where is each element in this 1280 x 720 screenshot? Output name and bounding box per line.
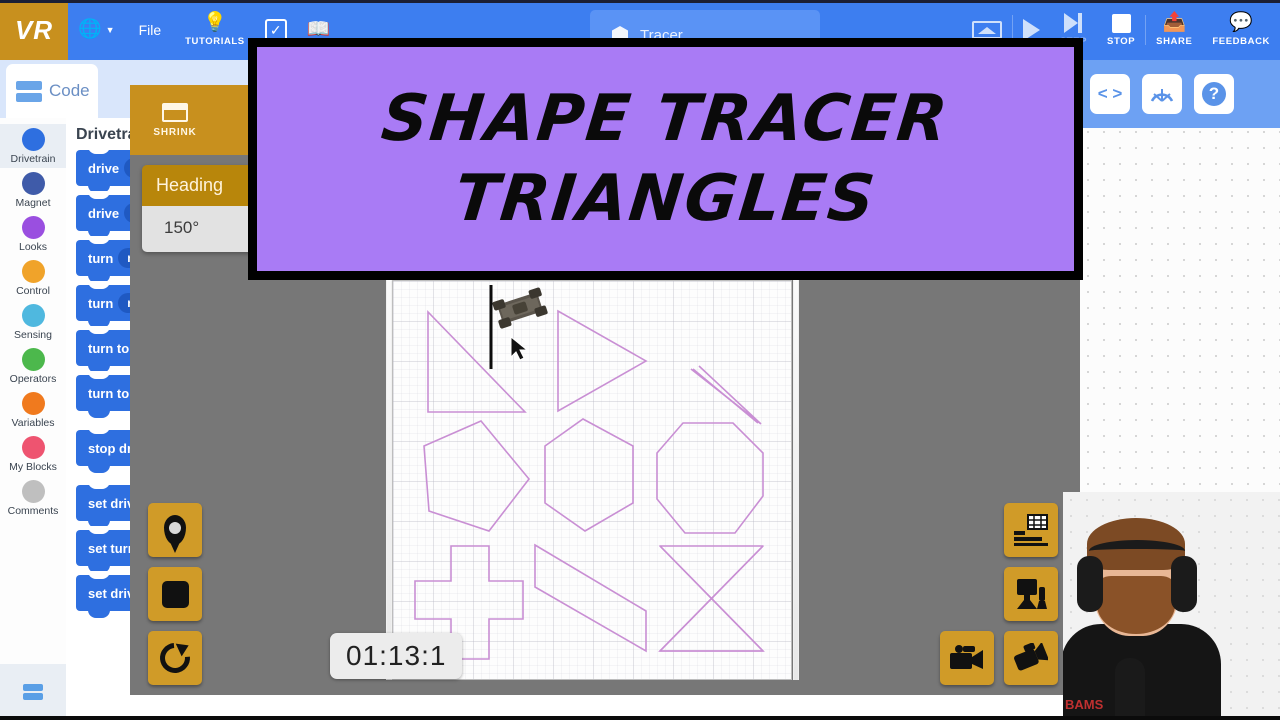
lightbulb-icon: 💡 [203, 13, 227, 33]
variables-color-dot [22, 392, 45, 415]
tab-code-label: Code [49, 81, 90, 101]
camera-view-button[interactable] [940, 631, 994, 685]
tab-code[interactable]: Code [6, 64, 98, 118]
app-window: Code Drivetrain Magnet Looks Control Sen… [0, 0, 1280, 720]
category-rail: Drivetrain Magnet Looks Control Sensing … [0, 118, 66, 720]
share-label: SHARE [1156, 36, 1192, 47]
shape-octagon [657, 423, 763, 533]
window-shrink-icon [162, 103, 188, 122]
sidebar-item-label: My Blocks [9, 461, 57, 473]
overlay-title-line1: SHAPE TRACER [379, 87, 952, 151]
shrink-label: SHRINK [153, 127, 196, 138]
sidebar-item-control[interactable]: Control [0, 256, 66, 300]
camera-controls-row [940, 631, 1058, 685]
microphone [1115, 658, 1145, 720]
feedback-label: FEEDBACK [1212, 36, 1270, 47]
presenter-beard [1097, 576, 1175, 634]
headphone-band [1089, 540, 1185, 562]
stop-button[interactable]: STOP [1097, 0, 1145, 60]
code-view-icon: < > [1098, 84, 1123, 104]
shrink-button[interactable]: SHRINK [130, 85, 220, 155]
help-icon: ? [1202, 82, 1226, 106]
data-table-icon [1014, 514, 1048, 546]
blocks-collapse-icon [23, 684, 43, 700]
share-button[interactable]: 📤 SHARE [1146, 0, 1202, 60]
reset-button[interactable] [148, 631, 202, 685]
overlay-title-line2: TRIANGLES [452, 167, 880, 231]
help-button[interactable]: ? [1194, 74, 1234, 114]
window-bottom-seam [0, 716, 1280, 720]
stop-button[interactable] [148, 567, 202, 621]
sidebar-item-label: Looks [19, 241, 47, 253]
shape-open-triangle [691, 366, 761, 424]
reset-reload-icon [154, 637, 196, 679]
workspace-toolbar: < > ? [1080, 60, 1280, 128]
comments-color-dot [22, 480, 45, 503]
sidebar-item-label: Sensing [14, 329, 52, 341]
globe-icon: 🌐 [78, 20, 102, 40]
shape-right-triangle [428, 312, 525, 412]
dashboard-button[interactable] [1142, 74, 1182, 114]
presenter-webcam: BAMS [1063, 492, 1280, 720]
stop-label: STOP [1107, 36, 1135, 47]
playground-left-controls [148, 503, 202, 685]
presenter-figure: BAMS [1063, 510, 1233, 720]
robot-sprite [492, 287, 548, 329]
sidebar-item-label: Operators [10, 373, 57, 385]
headphone-left-cup [1077, 556, 1103, 612]
shape-left-triangle [558, 311, 646, 411]
sidebar-item-drivetrain[interactable]: Drivetrain [0, 124, 66, 168]
camera-angle-icon [1014, 643, 1048, 673]
magnet-color-dot [22, 172, 45, 195]
tutorials-label: TUTORIALS [185, 36, 245, 47]
stop-icon [1112, 14, 1131, 33]
mouse-cursor [511, 337, 527, 360]
title-overlay: SHAPE TRACER TRIANGLES [248, 38, 1083, 280]
sidebar-item-looks[interactable]: Looks [0, 212, 66, 256]
data-table-button[interactable] [1004, 503, 1058, 557]
control-color-dot [22, 260, 45, 283]
sidebar-item-label: Control [16, 285, 50, 297]
sidebar-item-label: Variables [12, 417, 55, 429]
language-selector[interactable]: 🌐 ▼ [68, 20, 125, 40]
vr-logo[interactable]: VR [0, 0, 68, 60]
robot-config-icon [1015, 578, 1047, 610]
shape-hexagon [545, 419, 633, 531]
file-menu[interactable]: File [125, 22, 176, 38]
field-scrollbar-right[interactable] [793, 280, 799, 680]
shape-pentagon [424, 421, 529, 531]
feedback-icon: 💬 [1229, 13, 1253, 33]
blocks-icon [16, 81, 42, 102]
camera-angle-button[interactable] [1004, 631, 1058, 685]
sidebar-item-label: Drivetrain [11, 153, 56, 165]
collapse-palette-button[interactable] [0, 664, 66, 720]
dashboard-icon [1150, 85, 1174, 103]
robot-field[interactable] [392, 280, 792, 680]
operators-color-dot [22, 348, 45, 371]
sensing-color-dot [22, 304, 45, 327]
sensor-icon [972, 21, 1002, 39]
book-icon: 📖 [307, 20, 331, 40]
camera-view-icon [950, 645, 984, 671]
sidebar-item-variables[interactable]: Variables [0, 388, 66, 432]
stop-square-icon [162, 581, 189, 608]
step-icon [1064, 13, 1082, 33]
run-timer: 01:13:1 [330, 633, 462, 679]
sidebar-item-label: Magnet [15, 197, 50, 209]
sidebar-item-magnet[interactable]: Magnet [0, 168, 66, 212]
robot-config-button[interactable] [1004, 567, 1058, 621]
looks-color-dot [22, 216, 45, 239]
location-pin-button[interactable] [148, 503, 202, 557]
my-blocks-color-dot [22, 436, 45, 459]
share-icon: 📤 [1162, 13, 1186, 33]
sidebar-item-operators[interactable]: Operators [0, 344, 66, 388]
shape-parallelogram [535, 545, 646, 651]
code-view-button[interactable]: < > [1090, 74, 1130, 114]
tutorials-button[interactable]: 💡 TUTORIALS [175, 0, 255, 60]
feedback-button[interactable]: 💬 FEEDBACK [1202, 0, 1280, 60]
trace-drawing [393, 281, 793, 681]
playground-right-controls [940, 503, 1058, 685]
drivetrain-color-dot [22, 128, 45, 151]
sidebar-item-label: Comments [8, 505, 59, 517]
sidebar-item-my-blocks[interactable]: My Blocks [0, 432, 66, 476]
window-top-seam [0, 0, 1280, 3]
chevron-down-icon: ▼ [106, 25, 115, 35]
location-pin-icon [164, 515, 186, 545]
sidebar-item-sensing[interactable]: Sensing [0, 300, 66, 344]
shirt-logo: BAMS [1065, 697, 1103, 712]
sidebar-item-comments[interactable]: Comments [0, 476, 66, 520]
headphone-right-cup [1171, 556, 1197, 612]
